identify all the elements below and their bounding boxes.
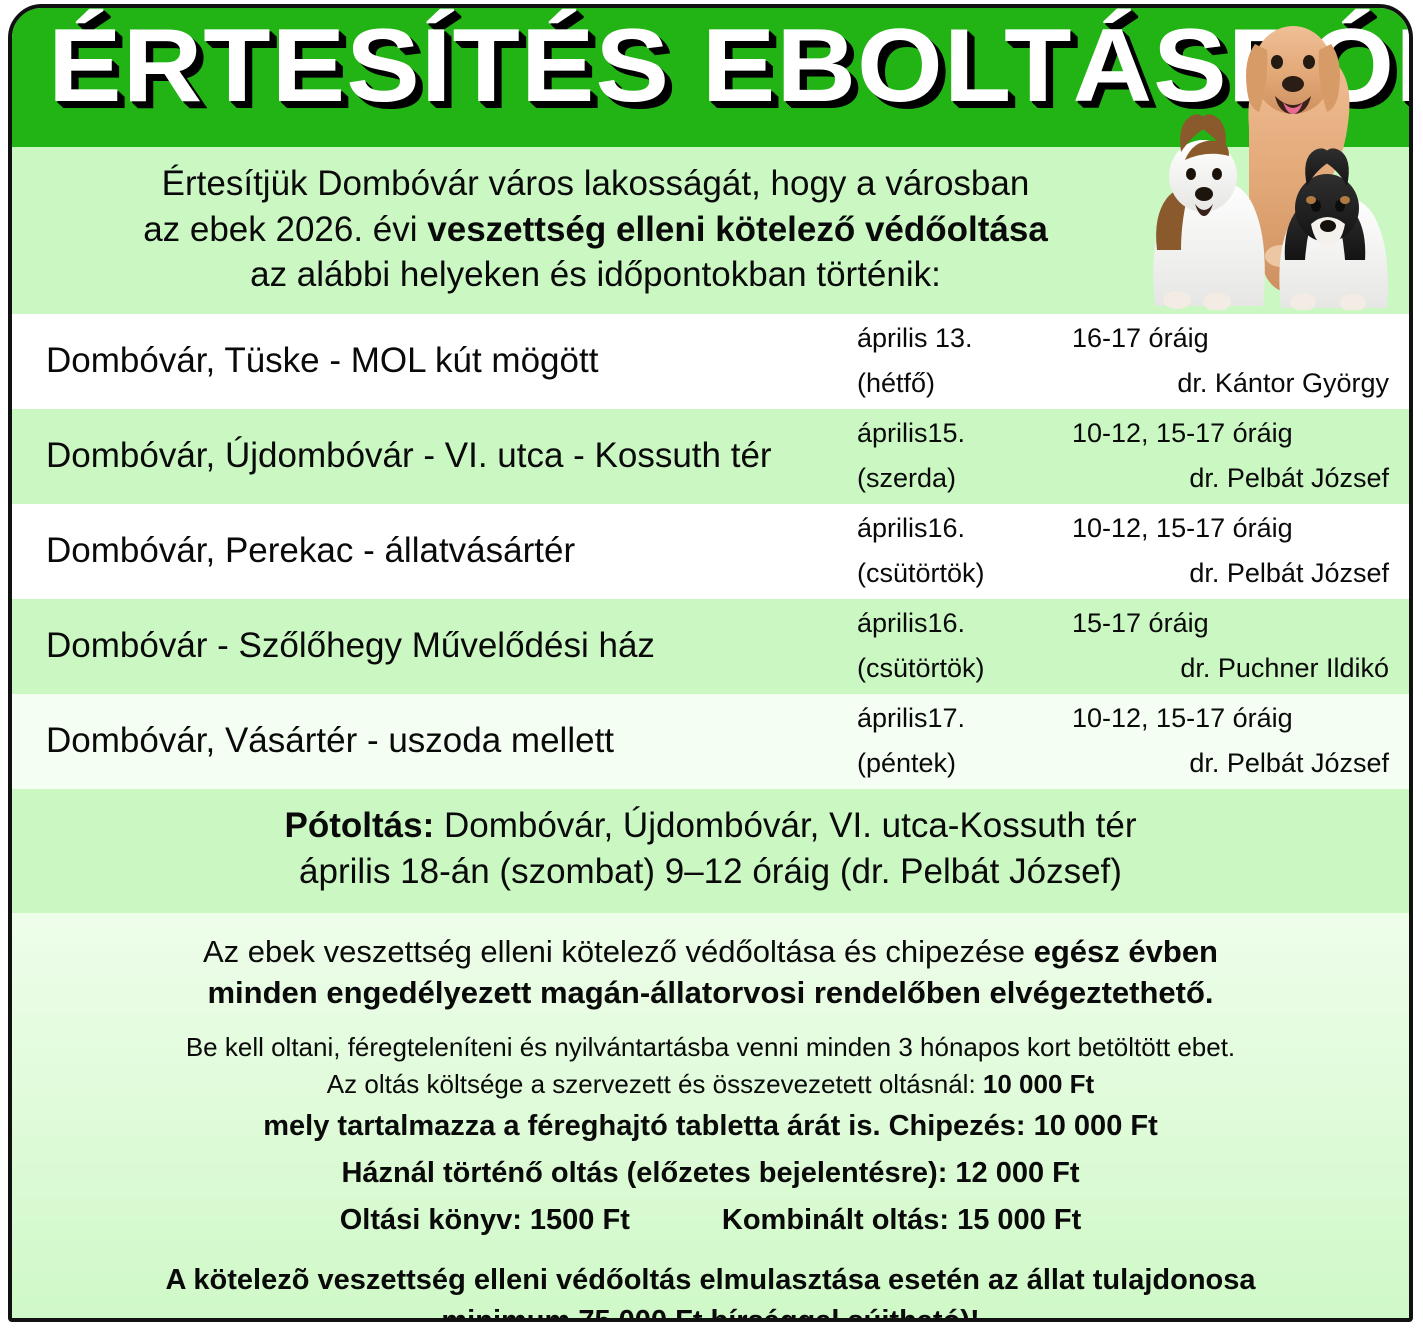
poster-frame: ÉRTESÍTÉS EBOLTÁSRÓL Értesítjük Dombóvár… <box>8 4 1413 1322</box>
intro-line-2: az ebek 2026. évi veszettség elleni köte… <box>12 207 1409 253</box>
penalty-warning: A kötelezõ veszettség elleni védőoltás e… <box>34 1260 1387 1322</box>
year-round-line-2: minden engedélyezett magán-állatorvosi r… <box>34 972 1387 1013</box>
potoltas-line-1: Pótoltás: Dombóvár, Újdombóvár, VI. utca… <box>12 803 1409 849</box>
intro-line-1: Értesítjük Dombóvár város lakosságát, ho… <box>12 161 1409 207</box>
price-line-chipping: mely tartalmazza a féreghajtó tabletta á… <box>34 1103 1387 1150</box>
schedule-date-day: április16. <box>857 506 1072 551</box>
potoltas-label: Pótoltás: <box>285 806 435 845</box>
notes-section: Az ebek veszettség elleni kötelező védőo… <box>12 913 1409 1322</box>
table-row: Dombóvár, Tüske - MOL kút mögött április… <box>12 314 1409 409</box>
schedule-doctor: dr. Kántor György <box>1072 361 1389 406</box>
schedule-date: április15. (szerda) <box>857 411 1072 500</box>
price-list: mely tartalmazza a féreghajtó tabletta á… <box>34 1103 1387 1244</box>
schedule-time: 10-12, 15-17 óráig dr. Pelbát József <box>1072 506 1403 595</box>
schedule-date-day: április 13. <box>857 316 1072 361</box>
table-row: Dombóvár, Vásártér - uszoda mellett ápri… <box>12 694 1409 789</box>
schedule-hours: 10-12, 15-17 óráig <box>1072 696 1389 741</box>
schedule-place: Dombóvár, Tüske - MOL kút mögött <box>12 341 857 381</box>
schedule-date-weekday: (hétfő) <box>857 361 1072 406</box>
schedule-date-day: április16. <box>857 601 1072 646</box>
intro-line-2-prefix: az ebek 2026. évi <box>143 210 427 249</box>
page-title: ÉRTESÍTÉS EBOLTÁSRÓL <box>48 14 1413 118</box>
intro-paragraph: Értesítjük Dombóvár város lakosságát, ho… <box>12 147 1409 314</box>
schedule-date: április16. (csütörtök) <box>857 506 1072 595</box>
schedule-date-weekday: (csütörtök) <box>857 551 1072 596</box>
potoltas-place: Dombóvár, Újdombóvár, VI. utca-Kossuth t… <box>434 806 1136 845</box>
schedule-hours: 15-17 óráig <box>1072 601 1389 646</box>
price-organized-prefix: Az oltás költsége a szervezett és összev… <box>327 1069 983 1099</box>
schedule-date: április16. (csütörtök) <box>857 601 1072 690</box>
year-round-note: Az ebek veszettség elleni kötelező védőo… <box>34 931 1387 1013</box>
requirements-note: Be kell oltani, féregteleníteni és nyilv… <box>34 1029 1387 1103</box>
schedule-time: 10-12, 15-17 óráig dr. Pelbát József <box>1072 411 1403 500</box>
price-organized-value: 10 000 Ft <box>983 1069 1094 1099</box>
potoltas-line-2: április 18-án (szombat) 9–12 óráig (dr. … <box>12 849 1409 895</box>
requirements-line-1: Be kell oltani, féregteleníteni és nyilv… <box>34 1029 1387 1066</box>
schedule-date-day: április17. <box>857 696 1072 741</box>
table-row: Dombóvár, Perekac - állatvásártér áprili… <box>12 504 1409 599</box>
year-round-line-1: Az ebek veszettség elleni kötelező védőo… <box>34 931 1387 972</box>
schedule-place: Dombóvár - Szőlőhegy Művelődési ház <box>12 626 857 666</box>
schedule-date-weekday: (csütörtök) <box>857 646 1072 691</box>
schedule-time: 16-17 óráig dr. Kántor György <box>1072 316 1403 405</box>
schedule-time: 10-12, 15-17 óráig dr. Pelbát József <box>1072 696 1403 785</box>
requirements-line-2: Az oltás költsége a szervezett és összev… <box>34 1066 1387 1103</box>
table-row: Dombóvár, Újdombóvár - VI. utca - Kossut… <box>12 409 1409 504</box>
schedule-hours: 10-12, 15-17 óráig <box>1072 411 1389 456</box>
schedule-doctor: dr. Pelbát József <box>1072 741 1389 786</box>
schedule-place: Dombóvár, Vásártér - uszoda mellett <box>12 721 857 761</box>
vaccination-schedule-table: Dombóvár, Tüske - MOL kút mögött április… <box>12 314 1409 789</box>
penalty-line-2: minimum 75.000 Ft bírsággal sújtható)! <box>34 1301 1387 1322</box>
poster-header: ÉRTESÍTÉS EBOLTÁSRÓL <box>12 8 1409 147</box>
price-combined: Kombinált oltás: 15 000 Ft <box>722 1204 1081 1236</box>
year-round-prefix: Az ebek veszettség elleni kötelező védőo… <box>203 934 1034 969</box>
schedule-hours: 10-12, 15-17 óráig <box>1072 506 1389 551</box>
price-line-booklet-combined: Oltási könyv: 1500 FtKombinált oltás: 15… <box>34 1197 1387 1244</box>
schedule-date: április 13. (hétfő) <box>857 316 1072 405</box>
schedule-date-weekday: (szerda) <box>857 456 1072 501</box>
price-booklet: Oltási könyv: 1500 Ft <box>340 1204 630 1236</box>
rabies-vaccination-notice-poster: ÉRTESÍTÉS EBOLTÁSRÓL Értesítjük Dombóvár… <box>0 0 1423 1328</box>
price-line-home-visit: Háznál történő oltás (előzetes bejelenté… <box>34 1150 1387 1197</box>
schedule-time: 15-17 óráig dr. Puchner Ildikó <box>1072 601 1403 690</box>
schedule-doctor: dr. Puchner Ildikó <box>1072 646 1389 691</box>
schedule-date-weekday: (péntek) <box>857 741 1072 786</box>
schedule-place: Dombóvár, Újdombóvár - VI. utca - Kossut… <box>12 436 857 476</box>
table-row: Dombóvár - Szőlőhegy Művelődési ház ápri… <box>12 599 1409 694</box>
schedule-date-day: április15. <box>857 411 1072 456</box>
schedule-place: Dombóvár, Perekac - állatvásártér <box>12 531 857 571</box>
intro-line-2-bold: veszettség elleni kötelező védőoltása <box>427 210 1048 249</box>
schedule-doctor: dr. Pelbát József <box>1072 456 1389 501</box>
penalty-line-1: A kötelezõ veszettség elleni védőoltás e… <box>34 1260 1387 1301</box>
intro-line-3: az alábbi helyeken és időpontokban törté… <box>12 252 1409 298</box>
makeup-vaccination-section: Pótoltás: Dombóvár, Újdombóvár, VI. utca… <box>12 789 1409 913</box>
schedule-hours: 16-17 óráig <box>1072 316 1389 361</box>
schedule-doctor: dr. Pelbát József <box>1072 551 1389 596</box>
year-round-bold-1: egész évben <box>1034 934 1218 969</box>
schedule-date: április17. (péntek) <box>857 696 1072 785</box>
